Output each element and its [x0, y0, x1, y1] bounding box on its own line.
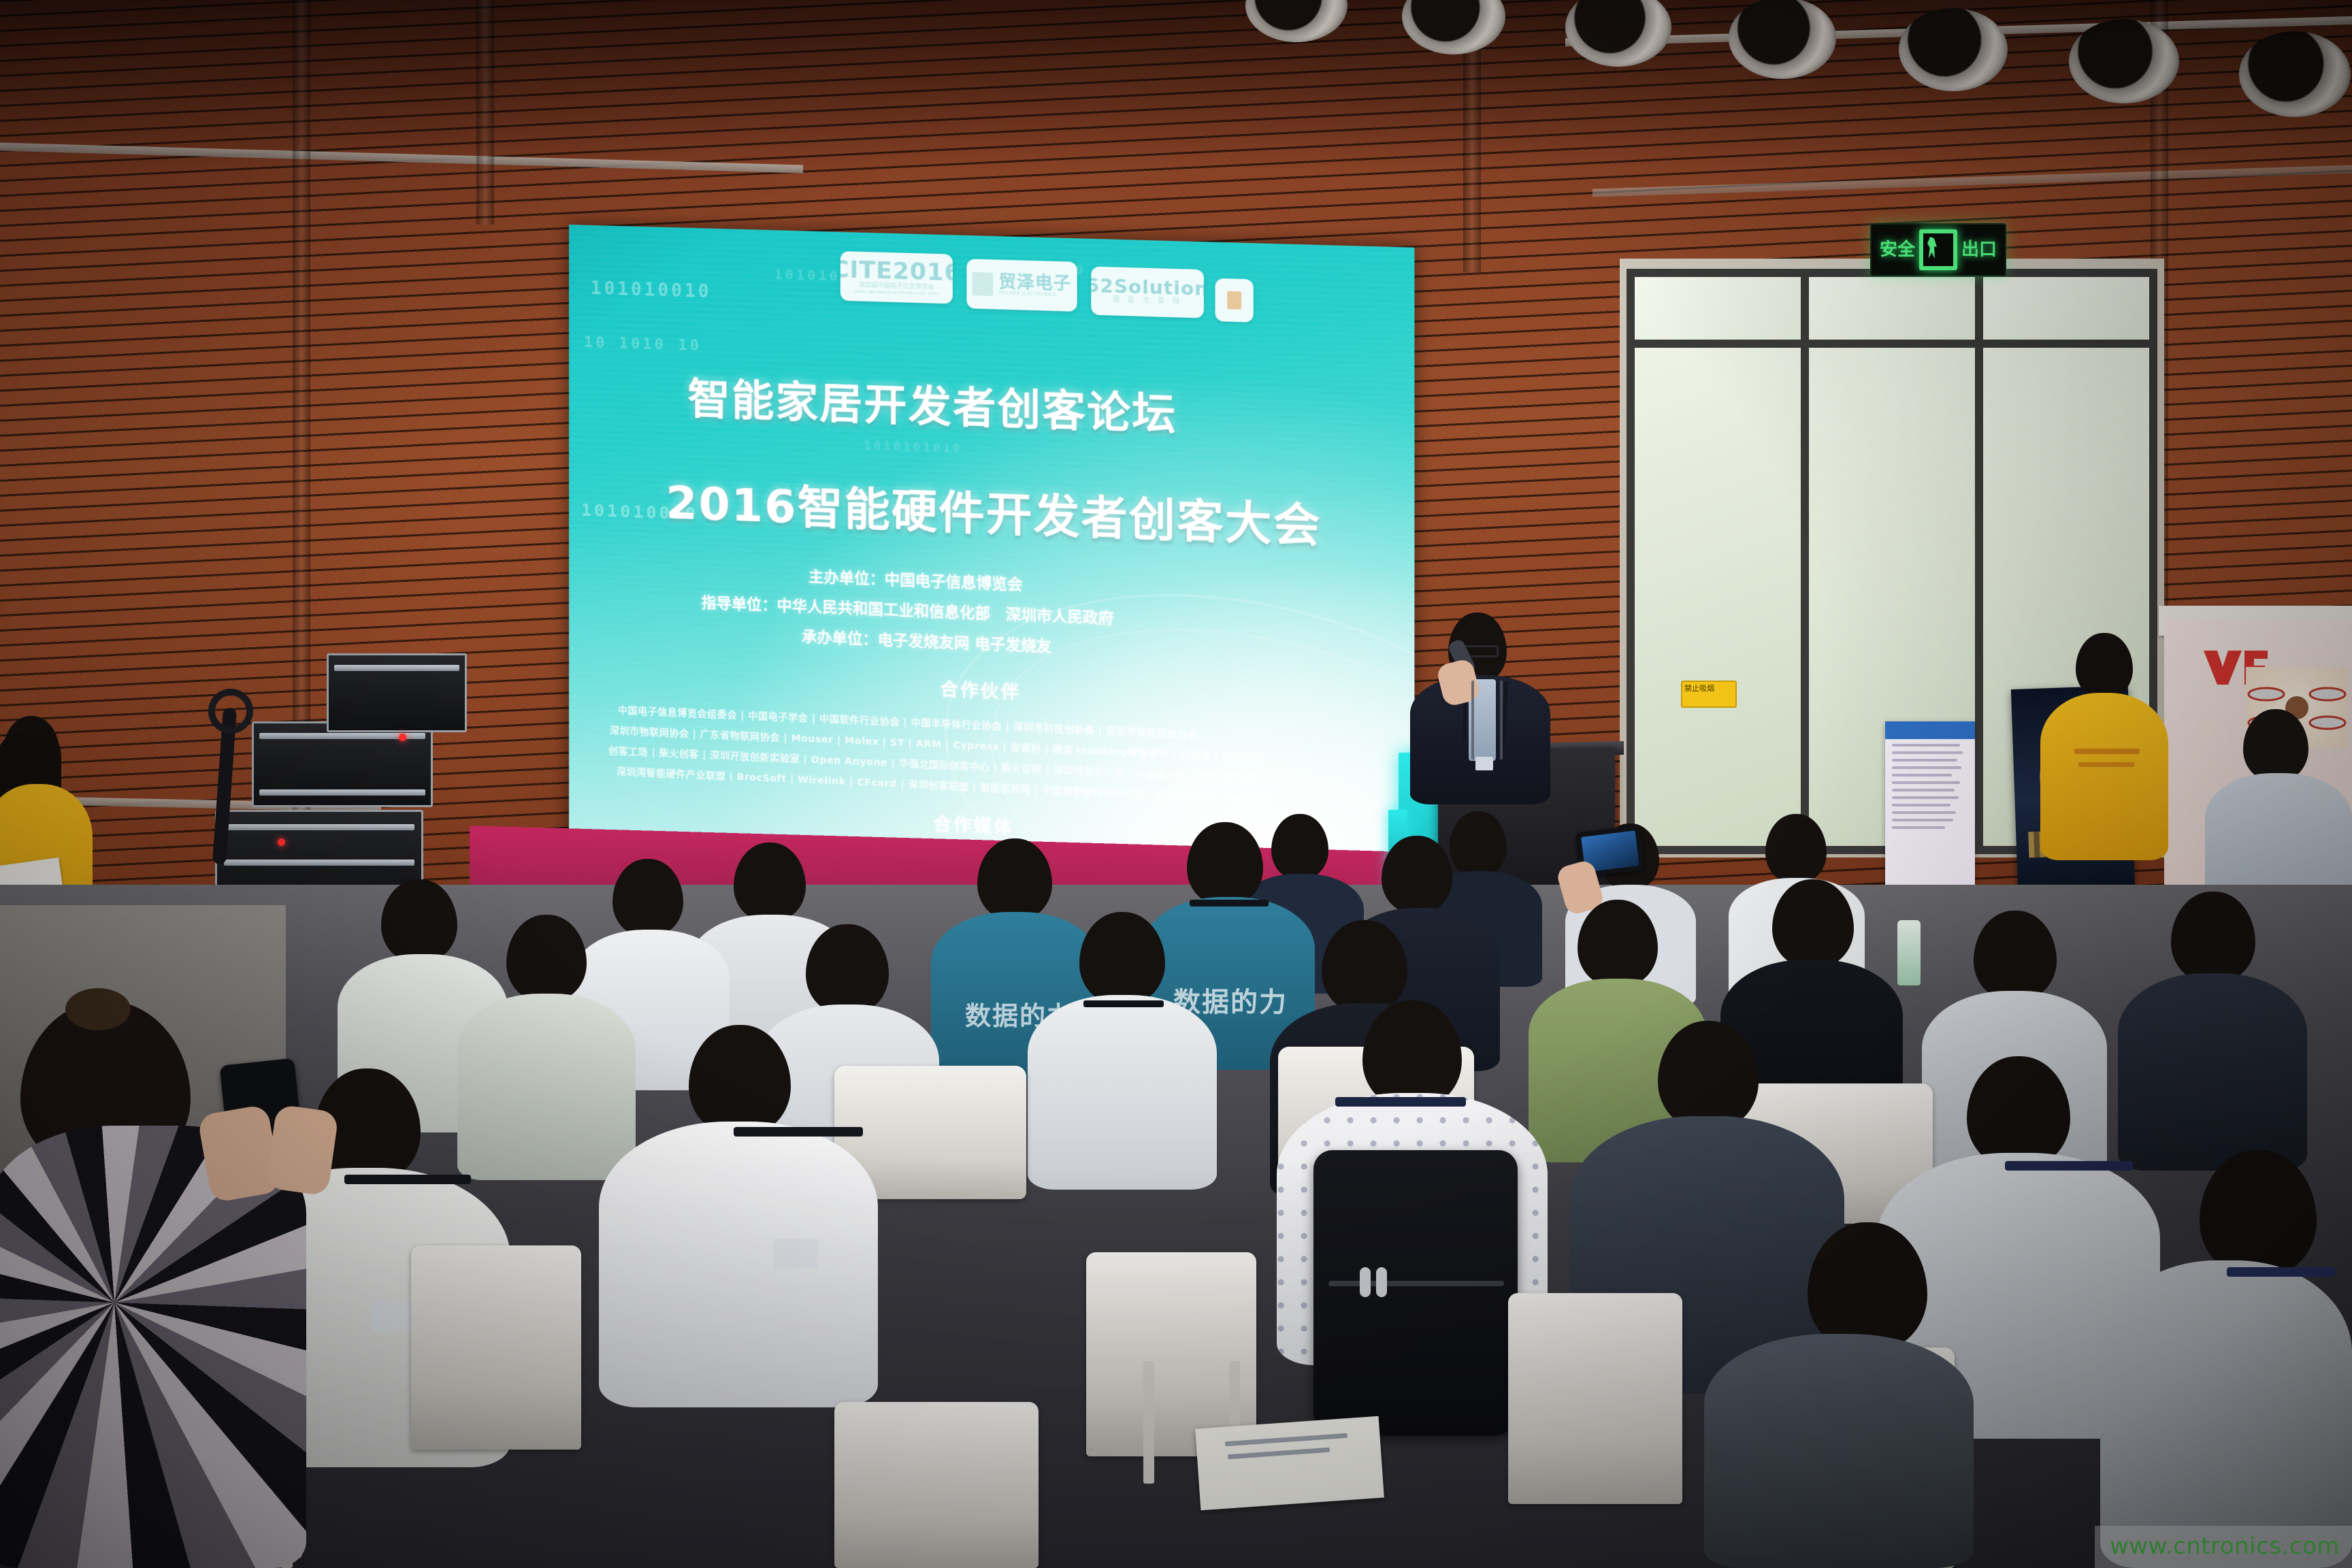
- attendee-head: [806, 924, 889, 1014]
- badge: [773, 1239, 818, 1269]
- backpack: [1313, 1150, 1518, 1436]
- logo-text-main: CITE2016: [840, 257, 953, 284]
- attendee-head: [734, 843, 806, 921]
- attendee-head: [1187, 822, 1263, 905]
- screen-title-line2: 2016智能硬件开发者创客大会: [666, 466, 1321, 556]
- sponsor-logo-mouser: 贸泽电子 MOUSER ELECTRONICS: [966, 259, 1077, 312]
- attendee-torso: [1704, 1334, 1974, 1568]
- lanyard: [2005, 1161, 2133, 1171]
- av-flight-case: [327, 653, 467, 732]
- attendee-shirt: [599, 1122, 878, 1407]
- staff-shirt: [2040, 693, 2168, 860]
- attendee-head: [2171, 892, 2255, 983]
- handout-paper: [1195, 1416, 1384, 1511]
- lanyard: [734, 1127, 863, 1137]
- logo-text-main: 贸泽电子: [998, 273, 1071, 292]
- lanyard: [2227, 1267, 2336, 1277]
- sponsor-logo-4: [1215, 278, 1254, 323]
- wall-panel-joint: [293, 0, 310, 844]
- attendee-head: [1974, 911, 2057, 1000]
- lanyard: [344, 1175, 471, 1184]
- backpack-zipper: [1328, 1281, 1504, 1286]
- chair: [1508, 1293, 1682, 1504]
- chair: [834, 1402, 1039, 1568]
- attendee-head: [2200, 1150, 2317, 1277]
- staff-shirt-print: [2078, 762, 2134, 767]
- attendee-hand: [265, 1104, 339, 1196]
- attendee-head: [1578, 900, 1658, 987]
- door-panel-glass[interactable]: [1635, 348, 1801, 846]
- running-man-door-icon: [1919, 229, 1957, 270]
- zipper-pull: [1360, 1267, 1371, 1297]
- screen-partners-heading: 合作伙伴: [940, 675, 1021, 704]
- logo-text-sub-cn: MOUSER ELECTRONICS: [998, 290, 1056, 297]
- site-watermark: www.cntronics.com: [2095, 1526, 2352, 1568]
- staff-head: [2076, 633, 2133, 698]
- attendee-head: [1772, 879, 1854, 968]
- attendee-head: [1271, 814, 1328, 879]
- attendee-head: [1658, 1021, 1759, 1130]
- conference-photo: 禁止吸烟 安全 出口 101010010 10 1010 10 10101001…: [0, 0, 2352, 1568]
- attendee-head: [506, 915, 587, 1002]
- lanyard: [1335, 1097, 1466, 1107]
- status-led: [278, 838, 285, 846]
- attendee-head: [612, 859, 683, 936]
- mouser-mark-icon: [973, 272, 994, 296]
- lanyard: [1083, 1000, 1164, 1007]
- water-bottle: [1897, 920, 1921, 985]
- binary-text: 1010101010: [864, 439, 962, 456]
- attendee-head: [977, 838, 1052, 920]
- screen-organizer-line: 主办单位：中国电子信息博览会: [808, 564, 1022, 594]
- ceiling-vent-icon: [1899, 8, 2008, 91]
- door-transom-glass: [1809, 277, 1975, 340]
- logo-text-sub-cn: 我 爱 方 案 网: [1113, 296, 1182, 307]
- wall-panel-joint: [476, 0, 494, 225]
- sponsor-logo-cite2016: CITE2016 第四届中国电子信息博览会 CHINA INFORMATION …: [840, 251, 953, 304]
- attendee-head: [1967, 1056, 2070, 1168]
- exit-sign-text-right: 出口: [1961, 241, 1997, 259]
- sponsor-logo-52solution: 52Solution 我 爱 方 案 网: [1091, 266, 1204, 318]
- attendee-head: [1079, 912, 1165, 1004]
- logo-text-main: 52Solution: [1091, 277, 1204, 299]
- binary-text: 101010010: [591, 278, 712, 302]
- badge: [1475, 757, 1493, 770]
- attendee-shirt: [1028, 995, 1217, 1190]
- ceiling-vent-icon: [2069, 19, 2179, 103]
- chair: [411, 1245, 581, 1450]
- lanyard: [1471, 681, 1503, 759]
- door-transom-glass: [1983, 277, 2149, 340]
- attendee-head: [1322, 920, 1407, 1013]
- attendee-shirt: [457, 994, 636, 1180]
- attendee-head: [1765, 814, 1827, 883]
- screen-media-heading: 合作媒体: [933, 810, 1014, 839]
- attendee-torso: [2118, 973, 2307, 1171]
- attendee-head: [1382, 836, 1452, 913]
- attendee-head: [689, 1025, 791, 1135]
- ceiling-vent-icon: [2239, 31, 2351, 117]
- no-smoking-label: 禁止吸烟: [1682, 682, 1735, 696]
- chair-leg: [1143, 1361, 1154, 1484]
- zipper-pull: [1376, 1267, 1387, 1297]
- ceiling-vent-icon: [1729, 0, 1836, 79]
- status-led: [399, 734, 406, 741]
- attendee-head: [1808, 1222, 1927, 1352]
- attendee-shirt: [2100, 1260, 2352, 1568]
- exit-sign-text-left: 安全: [1880, 241, 1915, 259]
- screen-title-line1: 智能家居开发者创客论坛: [687, 364, 1177, 442]
- attendee-head: [381, 879, 457, 962]
- headphones-icon: [208, 689, 253, 734]
- logo-mark-icon: [1227, 291, 1241, 310]
- binary-text: 10 1010 10: [584, 334, 702, 355]
- door-transom-glass: [1635, 277, 1801, 340]
- attendee-head: [2243, 709, 2308, 781]
- attendee-head: [1450, 811, 1507, 877]
- hair-accessory: [65, 988, 131, 1030]
- lanyard: [1190, 900, 1269, 906]
- no-smoking-sign: 禁止吸烟: [1681, 681, 1737, 708]
- staff-shirt-print: [2074, 749, 2140, 754]
- attendee-head: [1362, 1000, 1462, 1108]
- av-flight-case: [252, 721, 433, 807]
- emergency-exit-sign: 安全 出口: [1870, 223, 2006, 276]
